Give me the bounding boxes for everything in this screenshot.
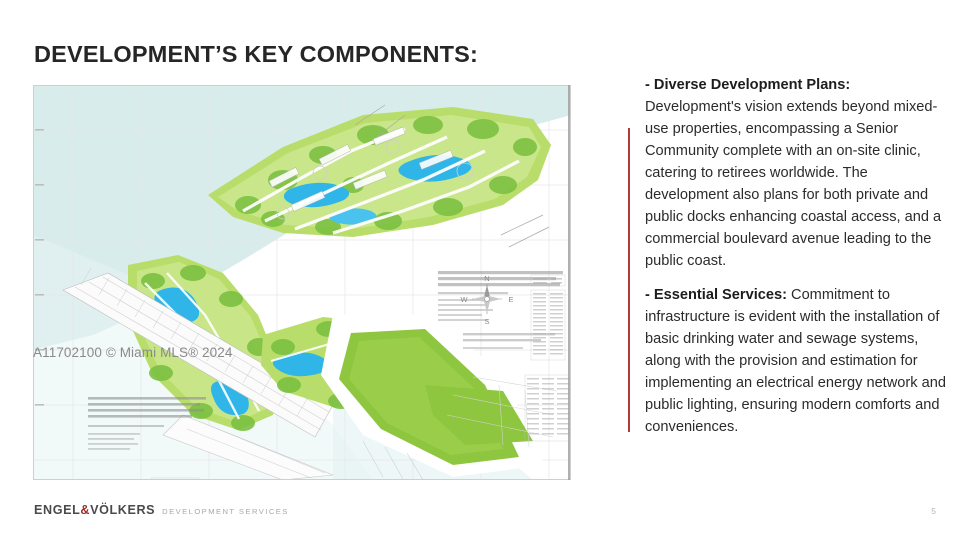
page-title: DEVELOPMENT’S KEY COMPONENTS: [34, 41, 478, 68]
svg-text:W: W [460, 295, 468, 304]
paragraph-body-diverse-development-plans: Development's vision extends beyond mixe… [645, 99, 941, 269]
paragraph-diverse-development-plans: - Diverse Development Plans: Development… [645, 74, 946, 272]
accent-bar-top [628, 128, 630, 308]
paragraph-block-diverse-development-plans: - Diverse Development Plans: Development… [628, 74, 946, 272]
paragraph-heading-essential-services: - Essential Services: [645, 287, 787, 303]
brand-logo: ENGEL&VÖLKERS DEVELOPMENT SERVICES [34, 503, 289, 517]
accent-bar-bottom [628, 284, 630, 432]
paragraph-heading-diverse-development-plans: - Diverse Development Plans: [645, 77, 850, 93]
brand-name-volkers: VÖLKERS [90, 503, 155, 517]
brand-logo-wordmark: ENGEL&VÖLKERS [34, 503, 155, 517]
paragraph-essential-services: - Essential Services: Commitment to infr… [645, 284, 946, 438]
brand-ampersand: & [80, 503, 90, 517]
svg-text:S: S [484, 317, 489, 326]
svg-text:N: N [484, 274, 489, 283]
brand-logo-subtitle: DEVELOPMENT SERVICES [162, 507, 289, 516]
paragraph-block-essential-services: - Essential Services: Commitment to infr… [628, 284, 946, 438]
brand-name-engel: ENGEL [34, 503, 80, 517]
page-number: 5 [931, 506, 936, 516]
key-components-text-column: - Diverse Development Plans: Development… [628, 74, 946, 450]
paragraph-body-essential-services: Commitment to infrastructure is evident … [645, 287, 946, 435]
site-plan-drawing: N W E S [33, 85, 571, 480]
svg-text:E: E [508, 295, 513, 304]
site-plan-image[interactable]: N W E S [33, 85, 571, 480]
